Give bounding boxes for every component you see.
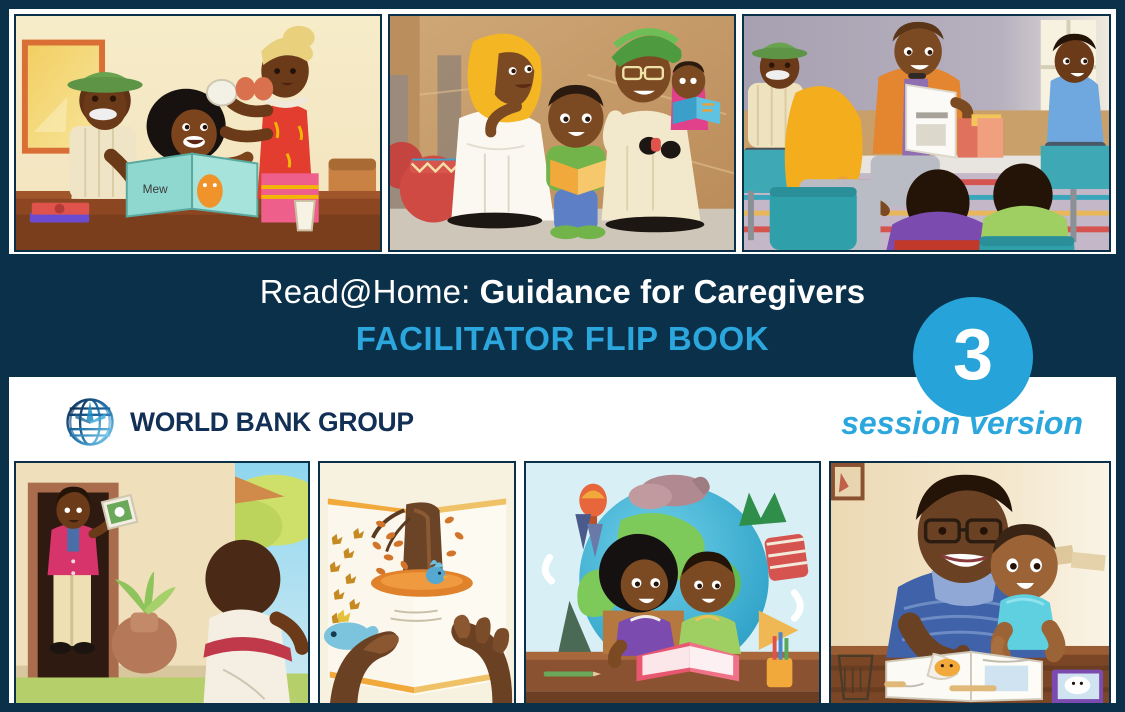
- bottom-image-row: [14, 461, 1111, 707]
- globe-icon: [63, 395, 117, 449]
- image-family-reading-outdoors: [388, 14, 736, 252]
- image-two-children-reading-globe: [524, 461, 821, 707]
- badge-number: 3: [953, 319, 993, 391]
- image-grandfather-girl-mother-reading: Mew: [14, 14, 382, 252]
- title-bold: Guidance for Caregivers: [480, 273, 866, 310]
- organization-name: WORLD BANK GROUP: [130, 407, 414, 438]
- image-father-and-toddler-reading: [829, 461, 1111, 707]
- image-hands-pointing-at-book: [318, 461, 516, 707]
- svg-text:Mew: Mew: [143, 182, 169, 196]
- world-bank-group-logo: WORLD BANK GROUP: [63, 395, 414, 449]
- image-facilitator-session-group: [742, 14, 1111, 252]
- image-man-at-doorway-with-card: [14, 461, 310, 707]
- top-image-row: Mew: [14, 14, 1111, 252]
- flip-book-cover: Mew: [0, 0, 1125, 712]
- session-number-badge: 3: [913, 297, 1033, 417]
- title-prefix: Read@Home:: [260, 273, 480, 310]
